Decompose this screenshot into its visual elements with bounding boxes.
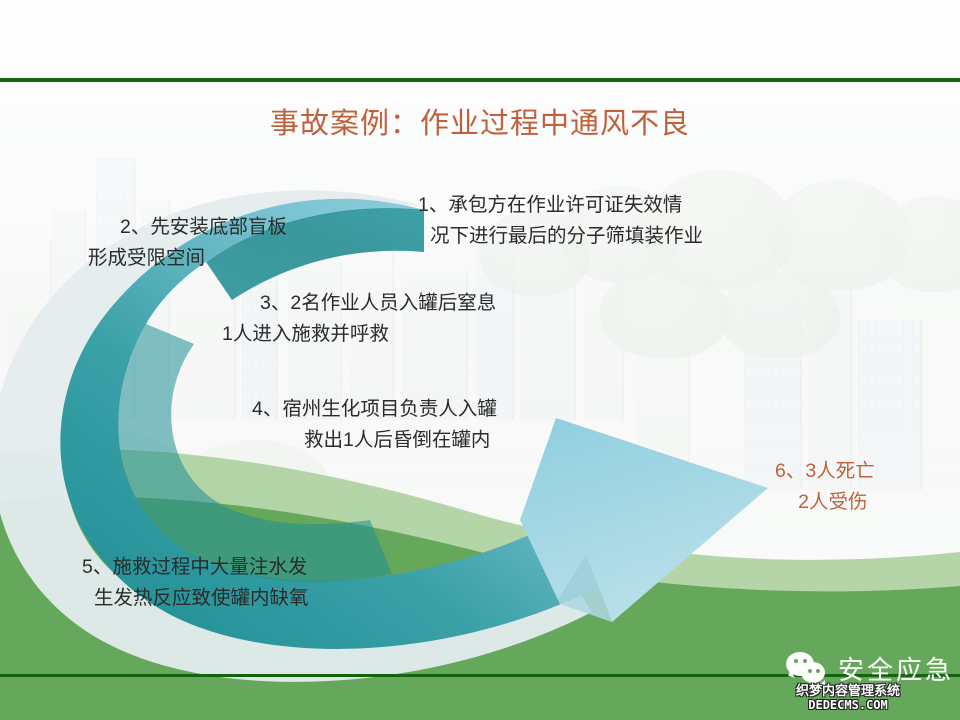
header-divider-line [0,78,960,82]
watermark-line-1: 织梦内容管理系统 [796,684,900,698]
watermark-line-2: DEDECMS.COM [796,698,900,712]
step-5-line-2: 生发热反应致使罐内缺氧 [94,583,309,614]
step-1-line-1: 1、承包方在作业许可证失效情 [418,190,703,221]
watermark: 织梦内容管理系统 DEDECMS.COM [796,684,900,712]
wechat-icon [786,652,830,686]
step-6-line-1: 6、3人死亡 [775,456,875,487]
step-2-line-1: 2、先安装底部盲板 [120,212,287,243]
step-1-line-2: 况下进行最后的分子筛填装作业 [430,221,703,252]
step-3-line-2: 1人进入施救并呼救 [222,319,496,350]
step-6-callout: 6、3人死亡 2人受伤 [775,456,875,518]
wechat-brand: 安全应急 [786,650,954,687]
step-3-line-1: 3、2名作业人员入罐后窒息 [260,288,496,319]
step-1-callout: 1、承包方在作业许可证失效情 况下进行最后的分子筛填装作业 [418,190,703,252]
step-5-callout: 5、施救过程中大量注水发 生发热反应致使罐内缺氧 [82,552,309,614]
slide-canvas: 事故案例：作业过程中通风不良 1、承包方在作业许可证失效情 况下进行最后的分子筛… [0,0,960,720]
step-4-callout: 4、宿州生化项目负责人入罐 救出1人后昏倒在罐内 [252,394,497,456]
brand-name-label: 安全应急 [838,650,954,687]
step-6-line-2: 2人受伤 [791,487,875,518]
step-2-line-2: 形成受限空间 [88,243,287,274]
page-title: 事故案例：作业过程中通风不良 [0,100,960,142]
step-5-line-1: 5、施救过程中大量注水发 [82,552,309,583]
arrow-head [520,418,768,622]
step-4-line-2: 救出1人后昏倒在罐内 [304,425,497,456]
step-3-callout: 3、2名作业人员入罐后窒息 1人进入施救并呼救 [222,288,496,350]
step-2-callout: 2、先安装底部盲板 形成受限空间 [88,212,287,274]
step-4-line-1: 4、宿州生化项目负责人入罐 [252,394,497,425]
